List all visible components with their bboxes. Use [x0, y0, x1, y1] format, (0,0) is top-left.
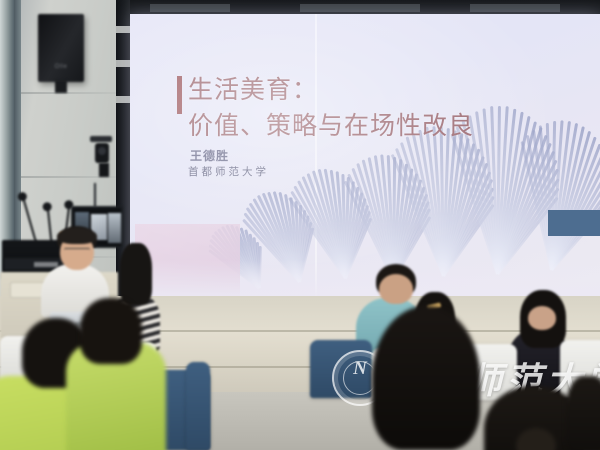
screen-panel-seam [315, 14, 317, 296]
audience-head [528, 306, 556, 330]
projection-screen: 生活美育： 价值、策略与在场性改良 王德胜 首都师范大学 [130, 14, 600, 296]
fan-element [442, 126, 446, 276]
speaker-mount [55, 80, 67, 93]
ceiling-light-strip [150, 4, 230, 12]
frame-highlight [116, 26, 130, 33]
audience-hair [372, 306, 480, 450]
presenter-hair-top [57, 228, 97, 244]
monitor-feed-pane [108, 213, 121, 243]
slide-blue-block [548, 210, 600, 236]
slide-title: 生活美育： 价值、策略与在场性改良 [188, 72, 474, 144]
audience-hair [120, 243, 152, 305]
audience-member-front [566, 376, 600, 450]
eyeglasses-icon [64, 248, 90, 253]
camera-lens-icon [98, 147, 106, 155]
ceiling-light-strip [300, 4, 420, 12]
av-unit-label [34, 262, 58, 267]
slide-title-line2: 价值、策略与在场性改良 [188, 108, 474, 144]
slide-speaker-org: 首都师范大学 [188, 164, 269, 179]
chair [186, 362, 210, 450]
ceiling-light-strip [470, 4, 560, 12]
camera-mount-arm [90, 136, 112, 142]
frame-highlight [116, 96, 130, 103]
audience-head [379, 274, 413, 304]
slide-title-line1: 生活美育： [188, 76, 318, 104]
audience-hair [80, 298, 142, 364]
lecture-hall-photo: 生活美育： 价值、策略与在场性改良 王德胜 首都师范大学 Olle [0, 0, 600, 450]
screen-light-falloff [130, 260, 600, 296]
fan-element [496, 106, 500, 274]
antenna [94, 183, 96, 207]
fan-element [550, 120, 554, 270]
speaker-brand-label: Olle [55, 64, 68, 70]
frame-highlight [116, 60, 130, 67]
camera-stem [99, 163, 109, 177]
title-accent-bar [177, 76, 182, 114]
chair [310, 340, 372, 398]
wall-speaker: Olle [38, 14, 84, 82]
slide-speaker-name: 王德胜 [190, 147, 229, 164]
